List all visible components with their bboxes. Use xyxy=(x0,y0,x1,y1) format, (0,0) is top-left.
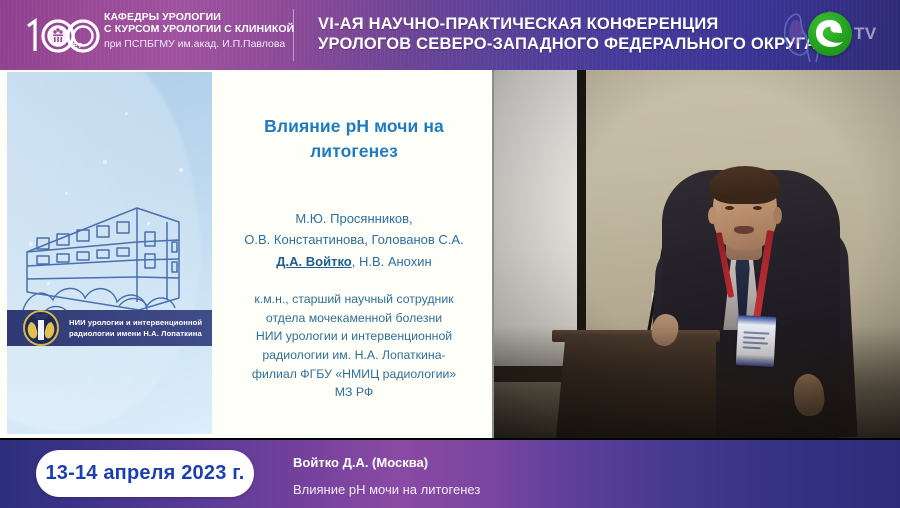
conference-title-line-1: VI-АЯ НАУЧНО-ПРАКТИЧЕСКАЯ КОНФЕРЕНЦИЯ xyxy=(318,14,788,34)
broadcast-screen: ЛЕТ КАФЕДРЫ УРОЛОГИИ С КУРСОМ УРОЛОГИИ С… xyxy=(0,0,900,508)
institute-banner-line-2: радиологии имени Н.А. Лопаткина xyxy=(69,328,202,339)
slide-title: Влияние рН мочи на литогенез xyxy=(218,114,490,164)
department-name-block: КАФЕДРЫ УРОЛОГИИ С КУРСОМ УРОЛОГИИ С КЛИ… xyxy=(104,11,284,50)
authors-line-3: Д.А. Войтко, Н.В. Анохин xyxy=(224,251,484,272)
anniversary-100-emblem-icon: ЛЕТ xyxy=(22,5,114,65)
speaker-info-block: Войтко Д.А. (Москва) Влияние рН мочи на … xyxy=(293,453,480,499)
tv-label: TV xyxy=(854,24,877,44)
presenter-ear-left xyxy=(708,207,717,224)
speaker-video-feed xyxy=(494,70,900,438)
svg-text:ЛЕТ: ЛЕТ xyxy=(68,43,83,50)
header-divider xyxy=(293,9,294,61)
affiliation-line: филиал ФГБУ «НМИЦ радиологии» xyxy=(222,365,486,384)
department-line-3: при ПСПБГМУ им.акад. И.П.Павлова xyxy=(104,38,284,50)
slide-authors: М.Ю. Просянников, О.В. Константинова, Го… xyxy=(218,208,490,272)
affiliation-line: НИИ урологии и интервенционной xyxy=(222,327,486,346)
presenter-eye-right xyxy=(753,206,762,210)
presenter-hair xyxy=(710,166,780,204)
authors-line-2: О.В. Константинова, Голованов С.А. xyxy=(224,229,484,250)
conference-date-text: 13-14 апреля 2023 г. xyxy=(45,462,244,485)
presentation-slide: НИИ урологии и интервенционной радиологи… xyxy=(0,70,494,438)
affiliation-line: отдела мочекаменной болезни xyxy=(222,309,486,328)
presenter-ear-right xyxy=(773,207,782,224)
affiliation-line: МЗ РФ xyxy=(222,383,486,402)
authors-line-3-rest: , Н.В. Анохин xyxy=(352,254,432,269)
speaker-name: Войтко Д.А. (Москва) xyxy=(293,453,480,473)
slide-left-graphic-panel: НИИ урологии и интервенционной радиологи… xyxy=(7,72,212,434)
institute-emblem-icon xyxy=(19,304,63,350)
conference-title-line-2: УРОЛОГОВ СЕВЕРО-ЗАПАДНОГО ФЕДЕРАЛЬНОГО О… xyxy=(318,34,788,54)
broadcaster-logo: TV xyxy=(772,0,890,70)
presenter-eye-left xyxy=(725,206,734,210)
slide-affiliation: к.м.н., старший научный сотрудник отдела… xyxy=(218,290,490,402)
uro-tv-glyph-icon xyxy=(808,12,852,56)
projection-screen-icon xyxy=(494,70,586,370)
slide-text-content: Влияние рН мочи на литогенез М.Ю. Просян… xyxy=(218,70,490,438)
conference-date-pill: 13-14 апреля 2023 г. xyxy=(36,450,254,497)
institute-name-banner: НИИ урологии и интервенционной радиологи… xyxy=(7,310,212,346)
conference-title: VI-АЯ НАУЧНО-ПРАКТИЧЕСКАЯ КОНФЕРЕНЦИЯ УР… xyxy=(318,14,788,54)
institute-banner-text: НИИ урологии и интервенционной радиологи… xyxy=(69,317,202,339)
department-line-2: С КУРСОМ УРОЛОГИИ С КЛИНИКОЙ xyxy=(104,23,284,35)
lower-third-bar: 13-14 апреля 2023 г. Войтко Д.А. (Москва… xyxy=(0,440,900,508)
affiliation-line: к.м.н., старший научный сотрудник xyxy=(222,290,486,309)
presenting-author-name: Д.А. Войтко xyxy=(276,254,351,269)
presenter-mouth xyxy=(734,226,754,234)
video-floor-shadow xyxy=(494,326,900,438)
institute-banner-line-1: НИИ урологии и интервенционной xyxy=(69,317,202,328)
talk-title: Влияние рН мочи на литогенез xyxy=(293,480,480,500)
department-line-1: КАФЕДРЫ УРОЛОГИИ xyxy=(104,11,284,23)
conference-header-banner: ЛЕТ КАФЕДРЫ УРОЛОГИИ С КУРСОМ УРОЛОГИИ С… xyxy=(0,0,900,70)
authors-line-1: М.Ю. Просянников, xyxy=(224,208,484,229)
affiliation-line: радиологии им. Н.А. Лопаткина- xyxy=(222,346,486,365)
